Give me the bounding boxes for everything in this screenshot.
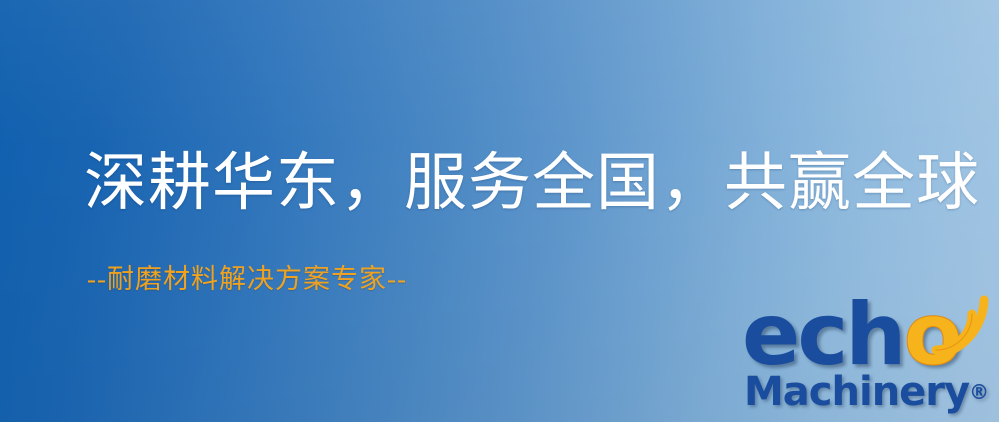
promo-banner: 深耕华东，服务全国，共赢全球 --耐磨材料解决方案专家-- echo Machi… [0,0,999,422]
signal-arcs-icon [928,290,994,362]
registered-trademark-icon: ® [969,380,989,404]
logo-subtext-label: Machinery [744,369,969,415]
logo-wordmark: echo [742,292,960,378]
brand-logo[interactable]: echo Machinery® [742,296,994,420]
page-title: 深耕华东，服务全国，共赢全球 [84,152,980,215]
logo-subtext: Machinery® [744,372,989,412]
subtitle-tagline: --耐磨材料解决方案专家-- [87,266,407,293]
